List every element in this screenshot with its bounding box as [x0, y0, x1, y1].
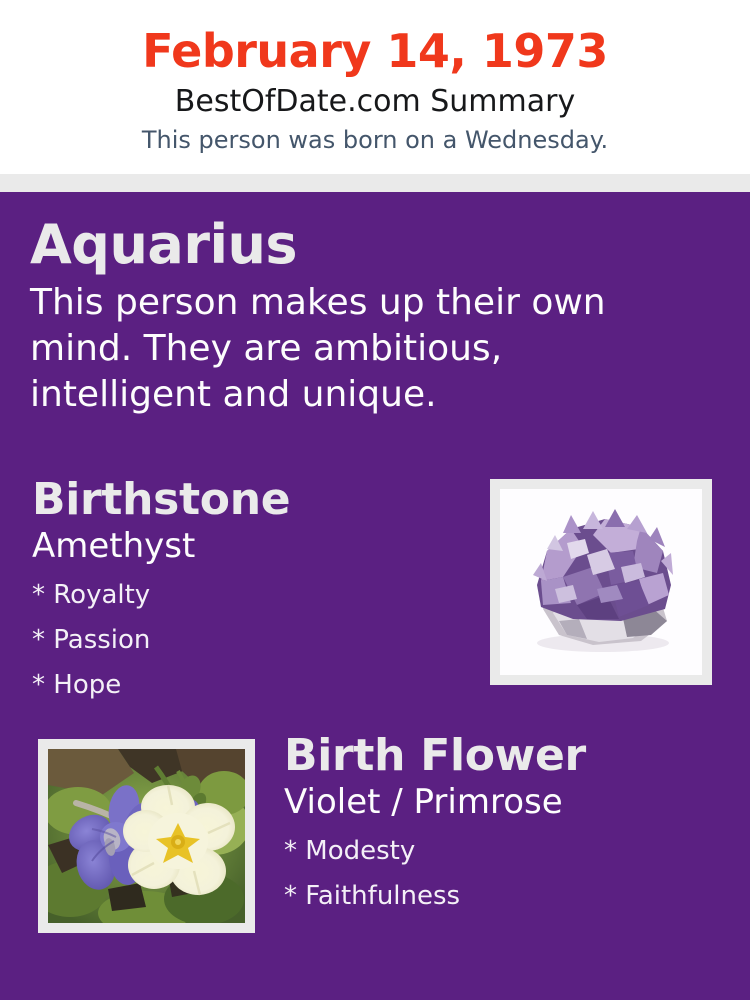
birth-flower-photo-frame: [38, 739, 255, 933]
list-item: * Hope: [32, 663, 462, 708]
birthstone-photo-frame: [490, 479, 712, 685]
header-divider: [0, 174, 750, 192]
zodiac-sign-heading: Aquarius: [30, 214, 710, 276]
violet-primrose-flower-icon: [48, 749, 245, 923]
list-item: * Faithfulness: [284, 874, 734, 919]
site-summary-label: BestOfDate.com Summary: [0, 82, 750, 122]
born-weekday-text: This person was born on a Wednesday.: [0, 124, 750, 156]
list-item: * Modesty: [284, 829, 734, 874]
birth-flower-heading: Birth Flower: [284, 730, 734, 782]
page-title: February 14, 1973: [0, 22, 750, 80]
birth-flower-section: Birth Flower Violet / Primrose * Modesty…: [284, 730, 734, 919]
birthstone-name: Amethyst: [32, 525, 462, 567]
list-item: * Passion: [32, 618, 462, 663]
summary-header: February 14, 1973 BestOfDate.com Summary…: [0, 0, 750, 174]
zodiac-section: Aquarius This person makes up their own …: [30, 214, 710, 418]
violet-primrose-image: [48, 749, 245, 923]
summary-body-panel: Aquarius This person makes up their own …: [0, 192, 750, 1000]
birthstone-trait-list: * Royalty * Passion * Hope: [32, 573, 462, 708]
list-item: * Royalty: [32, 573, 462, 618]
birth-flower-name: Violet / Primrose: [284, 781, 734, 823]
zodiac-description: This person makes up their own mind. The…: [30, 280, 690, 418]
amethyst-crystal-icon: [500, 489, 702, 675]
amethyst-crystal-image: [500, 489, 702, 675]
birthstone-section: Birthstone Amethyst * Royalty * Passion …: [32, 474, 462, 708]
birth-flower-trait-list: * Modesty * Faithfulness: [284, 829, 734, 919]
birthstone-heading: Birthstone: [32, 474, 462, 526]
